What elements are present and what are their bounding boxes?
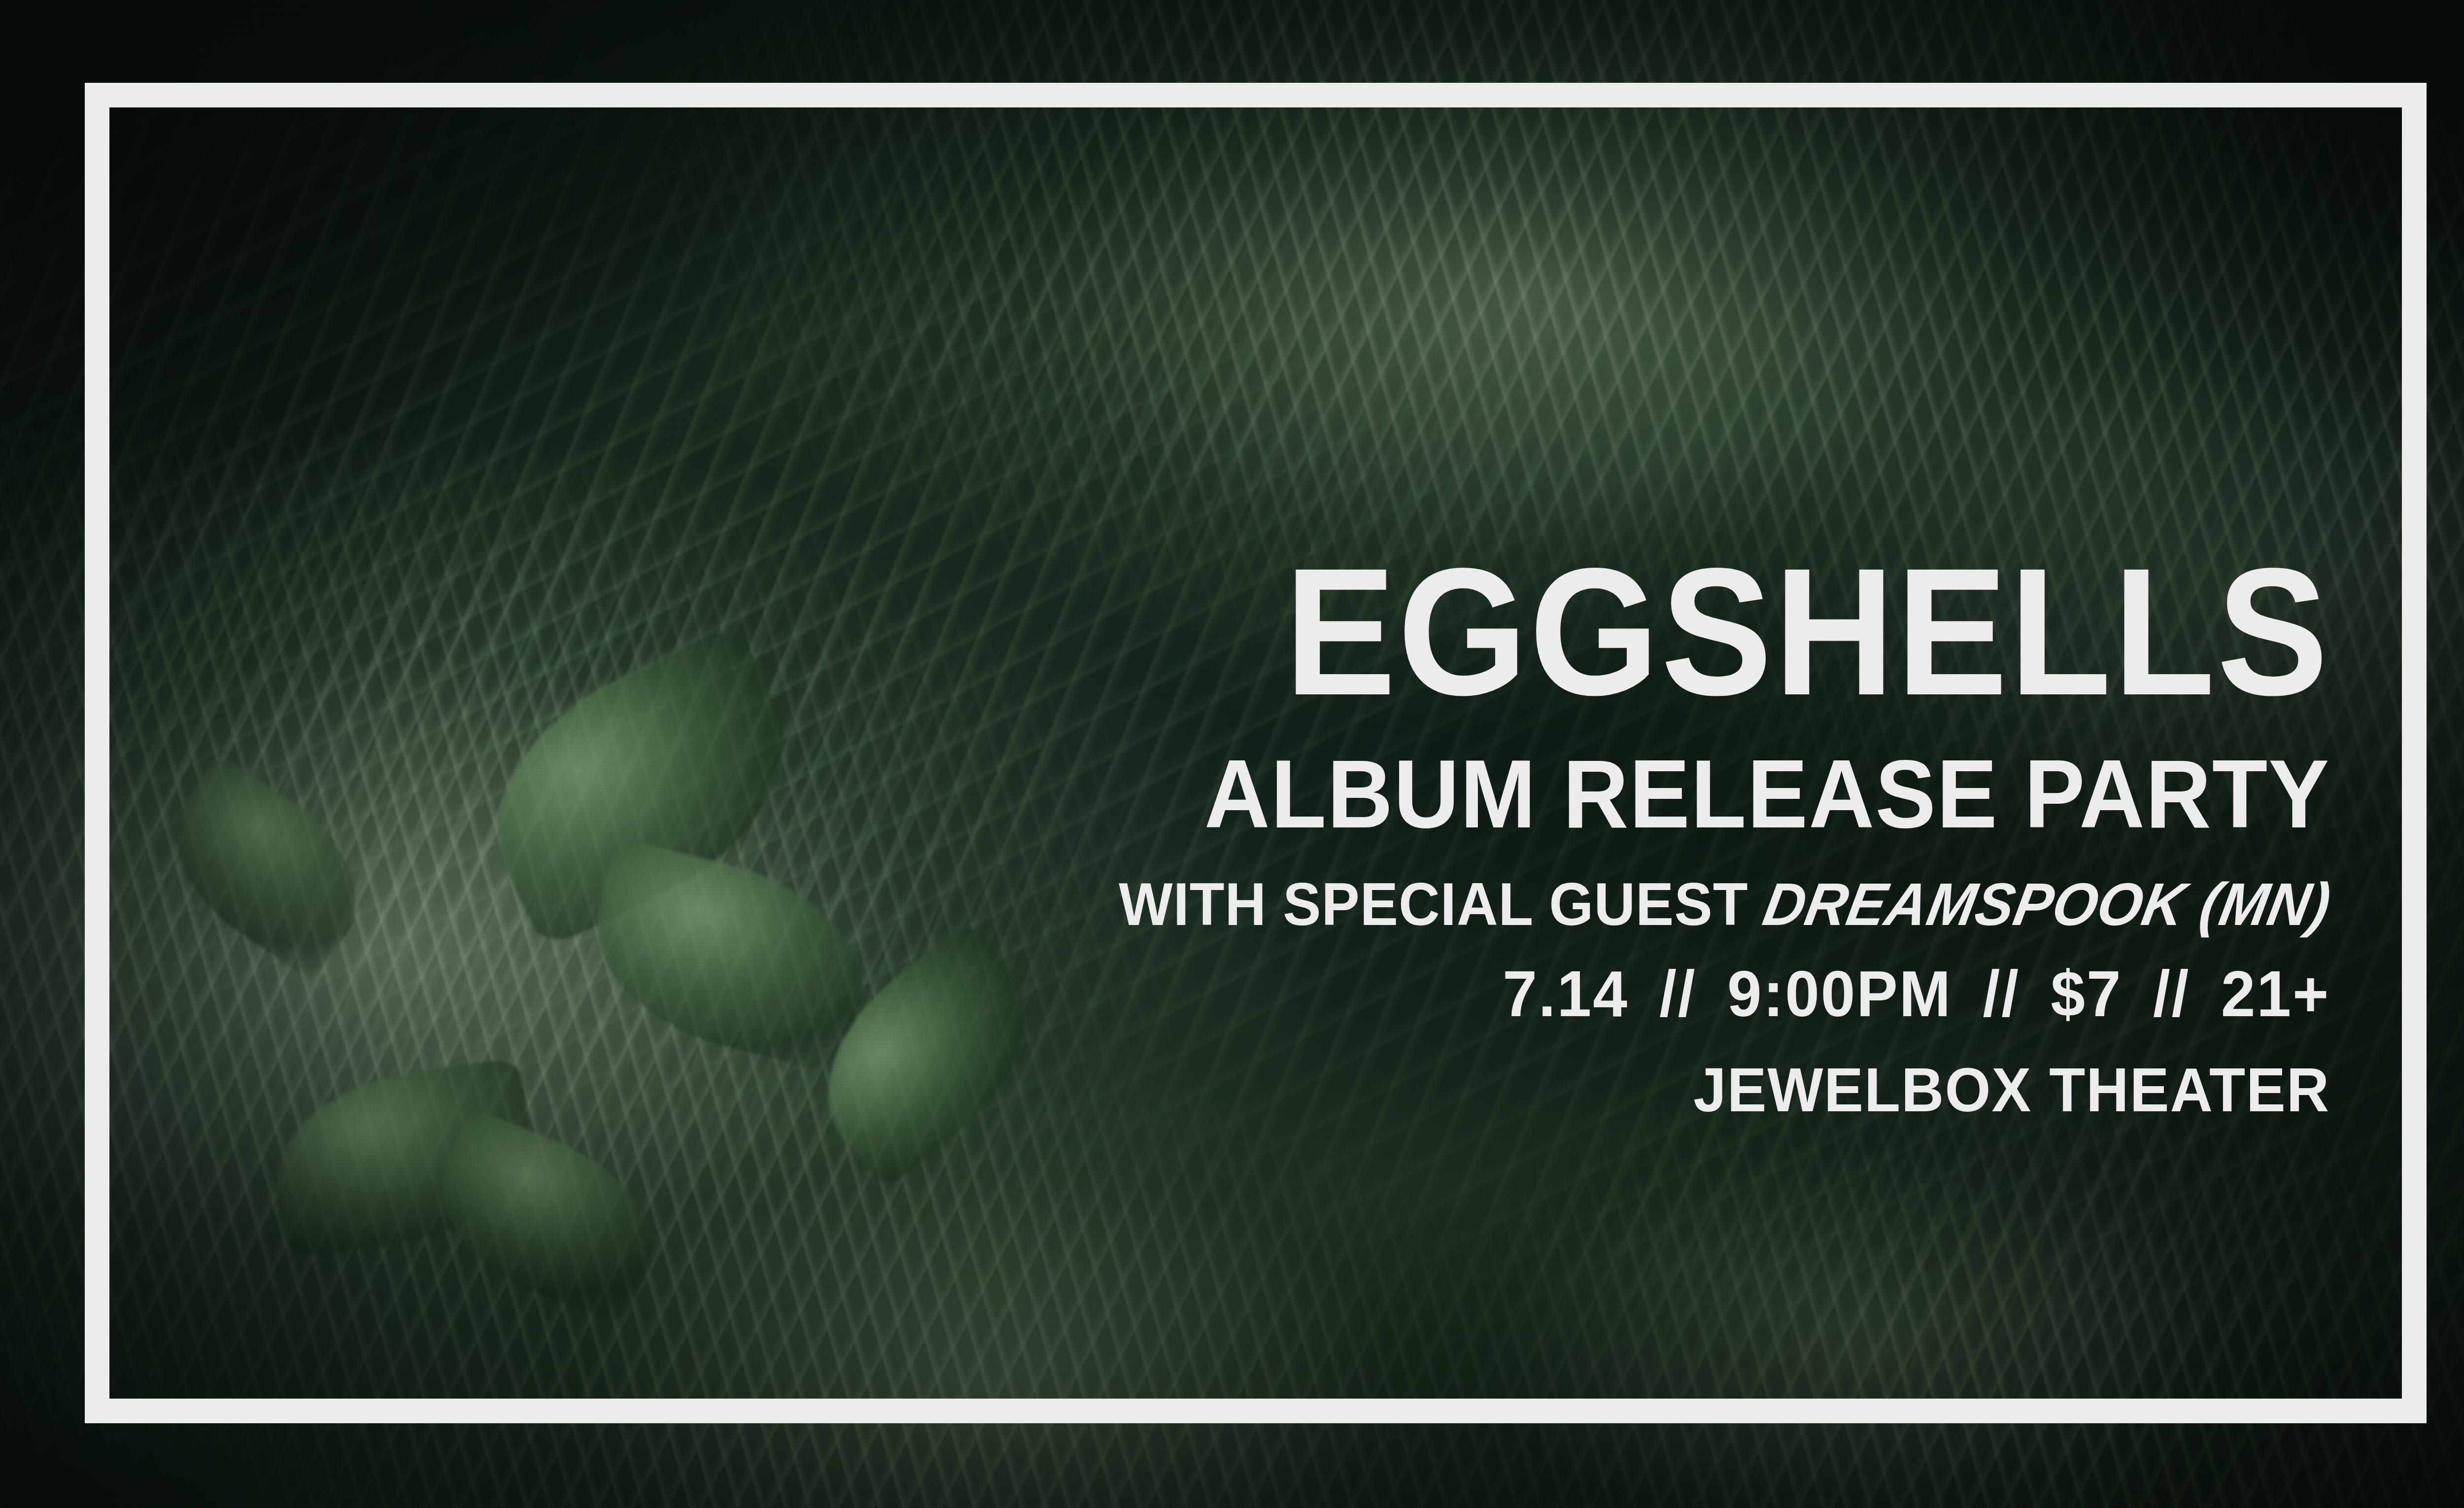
event-time: 9:00PM <box>1727 958 1952 1030</box>
separator-2: // <box>1971 960 2032 1028</box>
separator-1: // <box>1647 960 1709 1028</box>
venue-name: JEWELBOX THEATER <box>645 1058 2330 1123</box>
support-act-name: DREAMSPOOK (MN) <box>1758 872 2336 937</box>
support-act-prefix: WITH SPECIAL GUEST <box>1119 871 1748 938</box>
separator-3: // <box>2141 960 2202 1028</box>
event-title: ALBUM RELEASE PARTY <box>662 744 2330 845</box>
ticket-price: $7 <box>2051 958 2122 1030</box>
artist-name: EGGSHELLS <box>698 545 2330 719</box>
event-poster: EGGSHELLS ALBUM RELEASE PARTY WITH SPECI… <box>0 0 2464 1508</box>
age-restriction: 21+ <box>2221 958 2330 1030</box>
event-date: 7.14 <box>1503 958 1628 1030</box>
event-details-line: 7.14 // 9:00PM // $7 // 21+ <box>645 960 2330 1028</box>
poster-text-block: EGGSHELLS ALBUM RELEASE PARTY WITH SPECI… <box>556 545 2330 1123</box>
support-act-line: WITH SPECIAL GUEST DREAMSPOOK (MN) <box>645 872 2330 937</box>
